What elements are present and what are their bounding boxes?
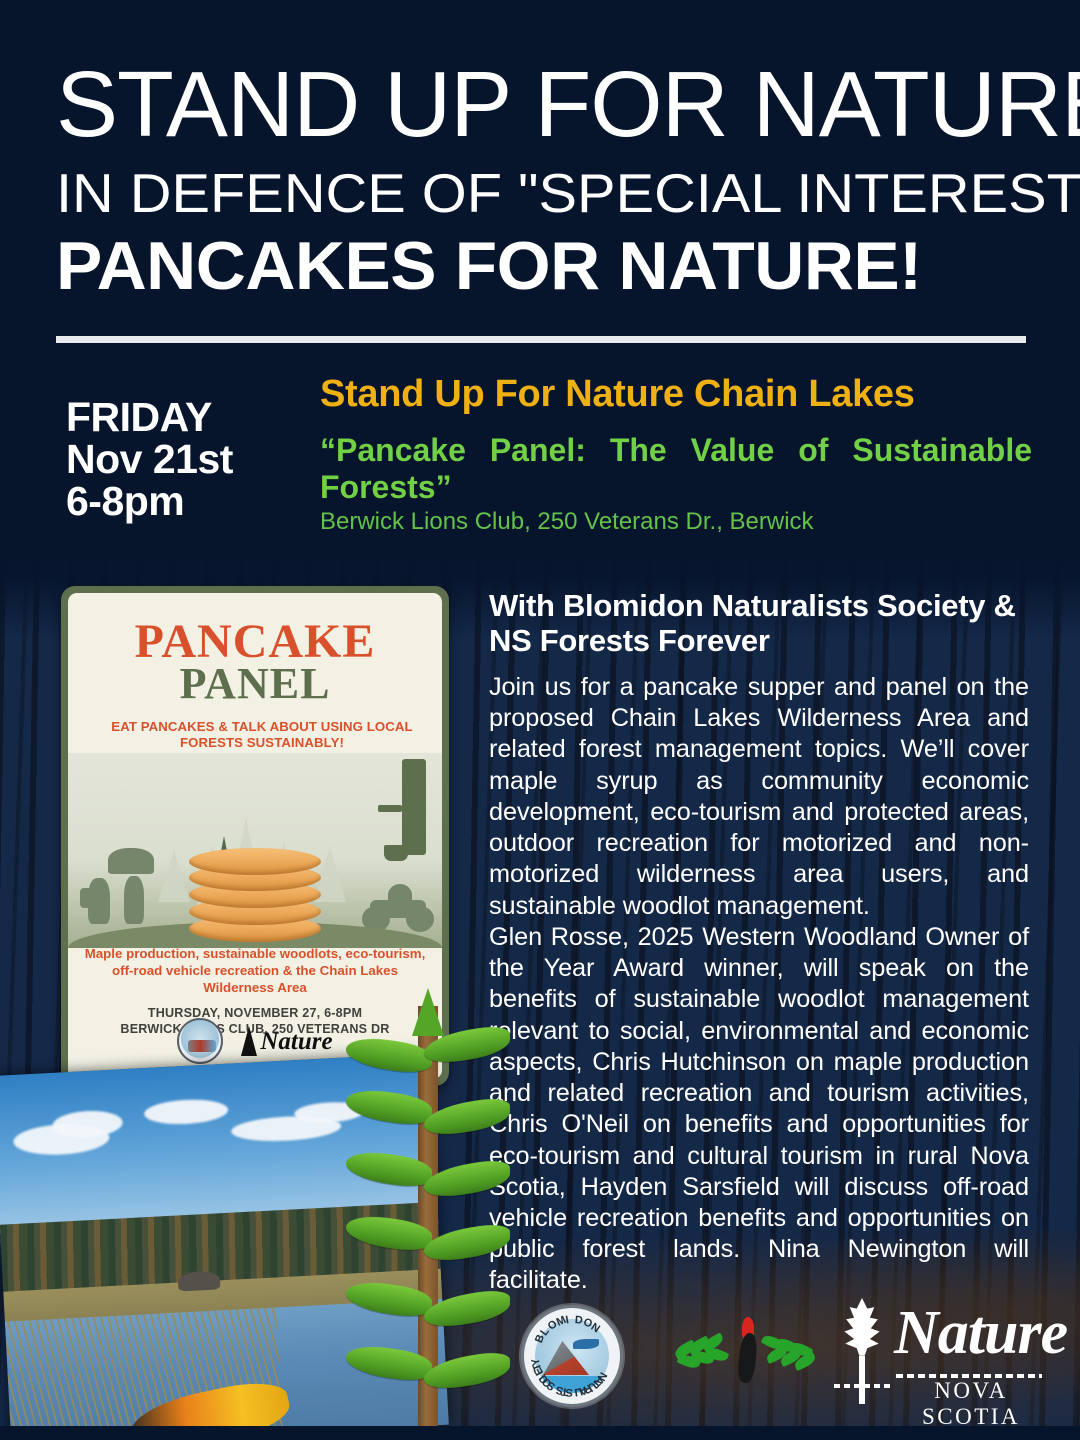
poster-title-pancake: PANCAKE [68, 619, 442, 665]
event-venue: Berwick Lions Club, 250 Veterans Dr., Be… [320, 508, 1032, 537]
poster-logger-icon [108, 848, 154, 874]
poster-sap-bucket-icon [384, 845, 408, 861]
poster-maple-stump-icon [402, 759, 426, 855]
headline-line-1: STAND UP FOR NATURE [56, 62, 1031, 148]
poster-tagline: EAT PANCAKES & TALK ABOUT USING LOCAL FO… [90, 719, 434, 751]
poster-backpack-icon [80, 888, 94, 908]
event-time: 6-8pm [66, 480, 316, 522]
nature-ns-wordmark: Nature [260, 1029, 332, 1054]
poster-pancake-stack-icon [189, 846, 321, 942]
headline-line-2: IN DEFENCE OF "SPECIAL INTERESTS” [56, 166, 1080, 221]
partners-heading: With Blomidon Naturalists Society & NS F… [489, 589, 1029, 658]
event-date: Nov 21st [66, 438, 316, 480]
nature-subtitle: NOVA SCOTIA [896, 1378, 1046, 1430]
poster-tree-icon [158, 850, 190, 902]
poster-atv-rider-icon [362, 884, 434, 932]
nature-ns-logo: Nature [241, 1026, 332, 1056]
headline-line-3: PANCAKES FOR NATURE! [56, 232, 1051, 300]
footer-bar [0, 1426, 1080, 1440]
leaf-sprig-icon [672, 1338, 744, 1374]
nature-nova-scotia-logo: Nature NOVA SCOTIA [834, 1298, 1044, 1410]
photo-rock [178, 1270, 221, 1291]
event-day: FRIDAY [66, 396, 316, 438]
nature-ns-tree-icon [834, 1298, 890, 1404]
nature-wordmark: Nature [894, 1302, 1067, 1364]
body-paragraph-1: Join us for a pancake supper and panel o… [489, 672, 1029, 922]
event-subtitle: “Pancake Panel: The Value of Sustainable… [320, 432, 1032, 506]
poster-sap-tap-icon [378, 805, 402, 812]
event-title: Stand Up For Nature Chain Lakes [320, 374, 1032, 415]
event-date-block: FRIDAY Nov 21st 6-8pm [66, 396, 316, 523]
body-paragraph-2: Glen Rosse, 2025 Western Woodland Owner … [489, 922, 1029, 1297]
poster-title-panel: PANEL [68, 663, 442, 705]
blomidon-naturalists-society-seal: BLOMIDONNATURALISTS SOCIETY [521, 1305, 623, 1407]
body-copy: Join us for a pancake supper and panel o… [489, 672, 1029, 1297]
seal-ring-text: NATURALISTS SOCIETY [524, 1308, 620, 1404]
leaf-sprig-icon [760, 1338, 832, 1374]
nature-ns-tree-icon [241, 1026, 257, 1056]
poster-topics: Maple production, sustainable woodlots, … [84, 945, 426, 996]
blomidon-seal-icon [177, 1018, 223, 1064]
header-divider [56, 336, 1026, 343]
woodpecker-icon [735, 1315, 761, 1385]
conifer-tree-icon [352, 996, 512, 1426]
poster-hiker-icon [124, 876, 144, 924]
poster-root: STAND UP FOR NATURE IN DEFENCE OF "SPECI… [0, 0, 1080, 1440]
poster-illustration-scene [68, 753, 442, 948]
